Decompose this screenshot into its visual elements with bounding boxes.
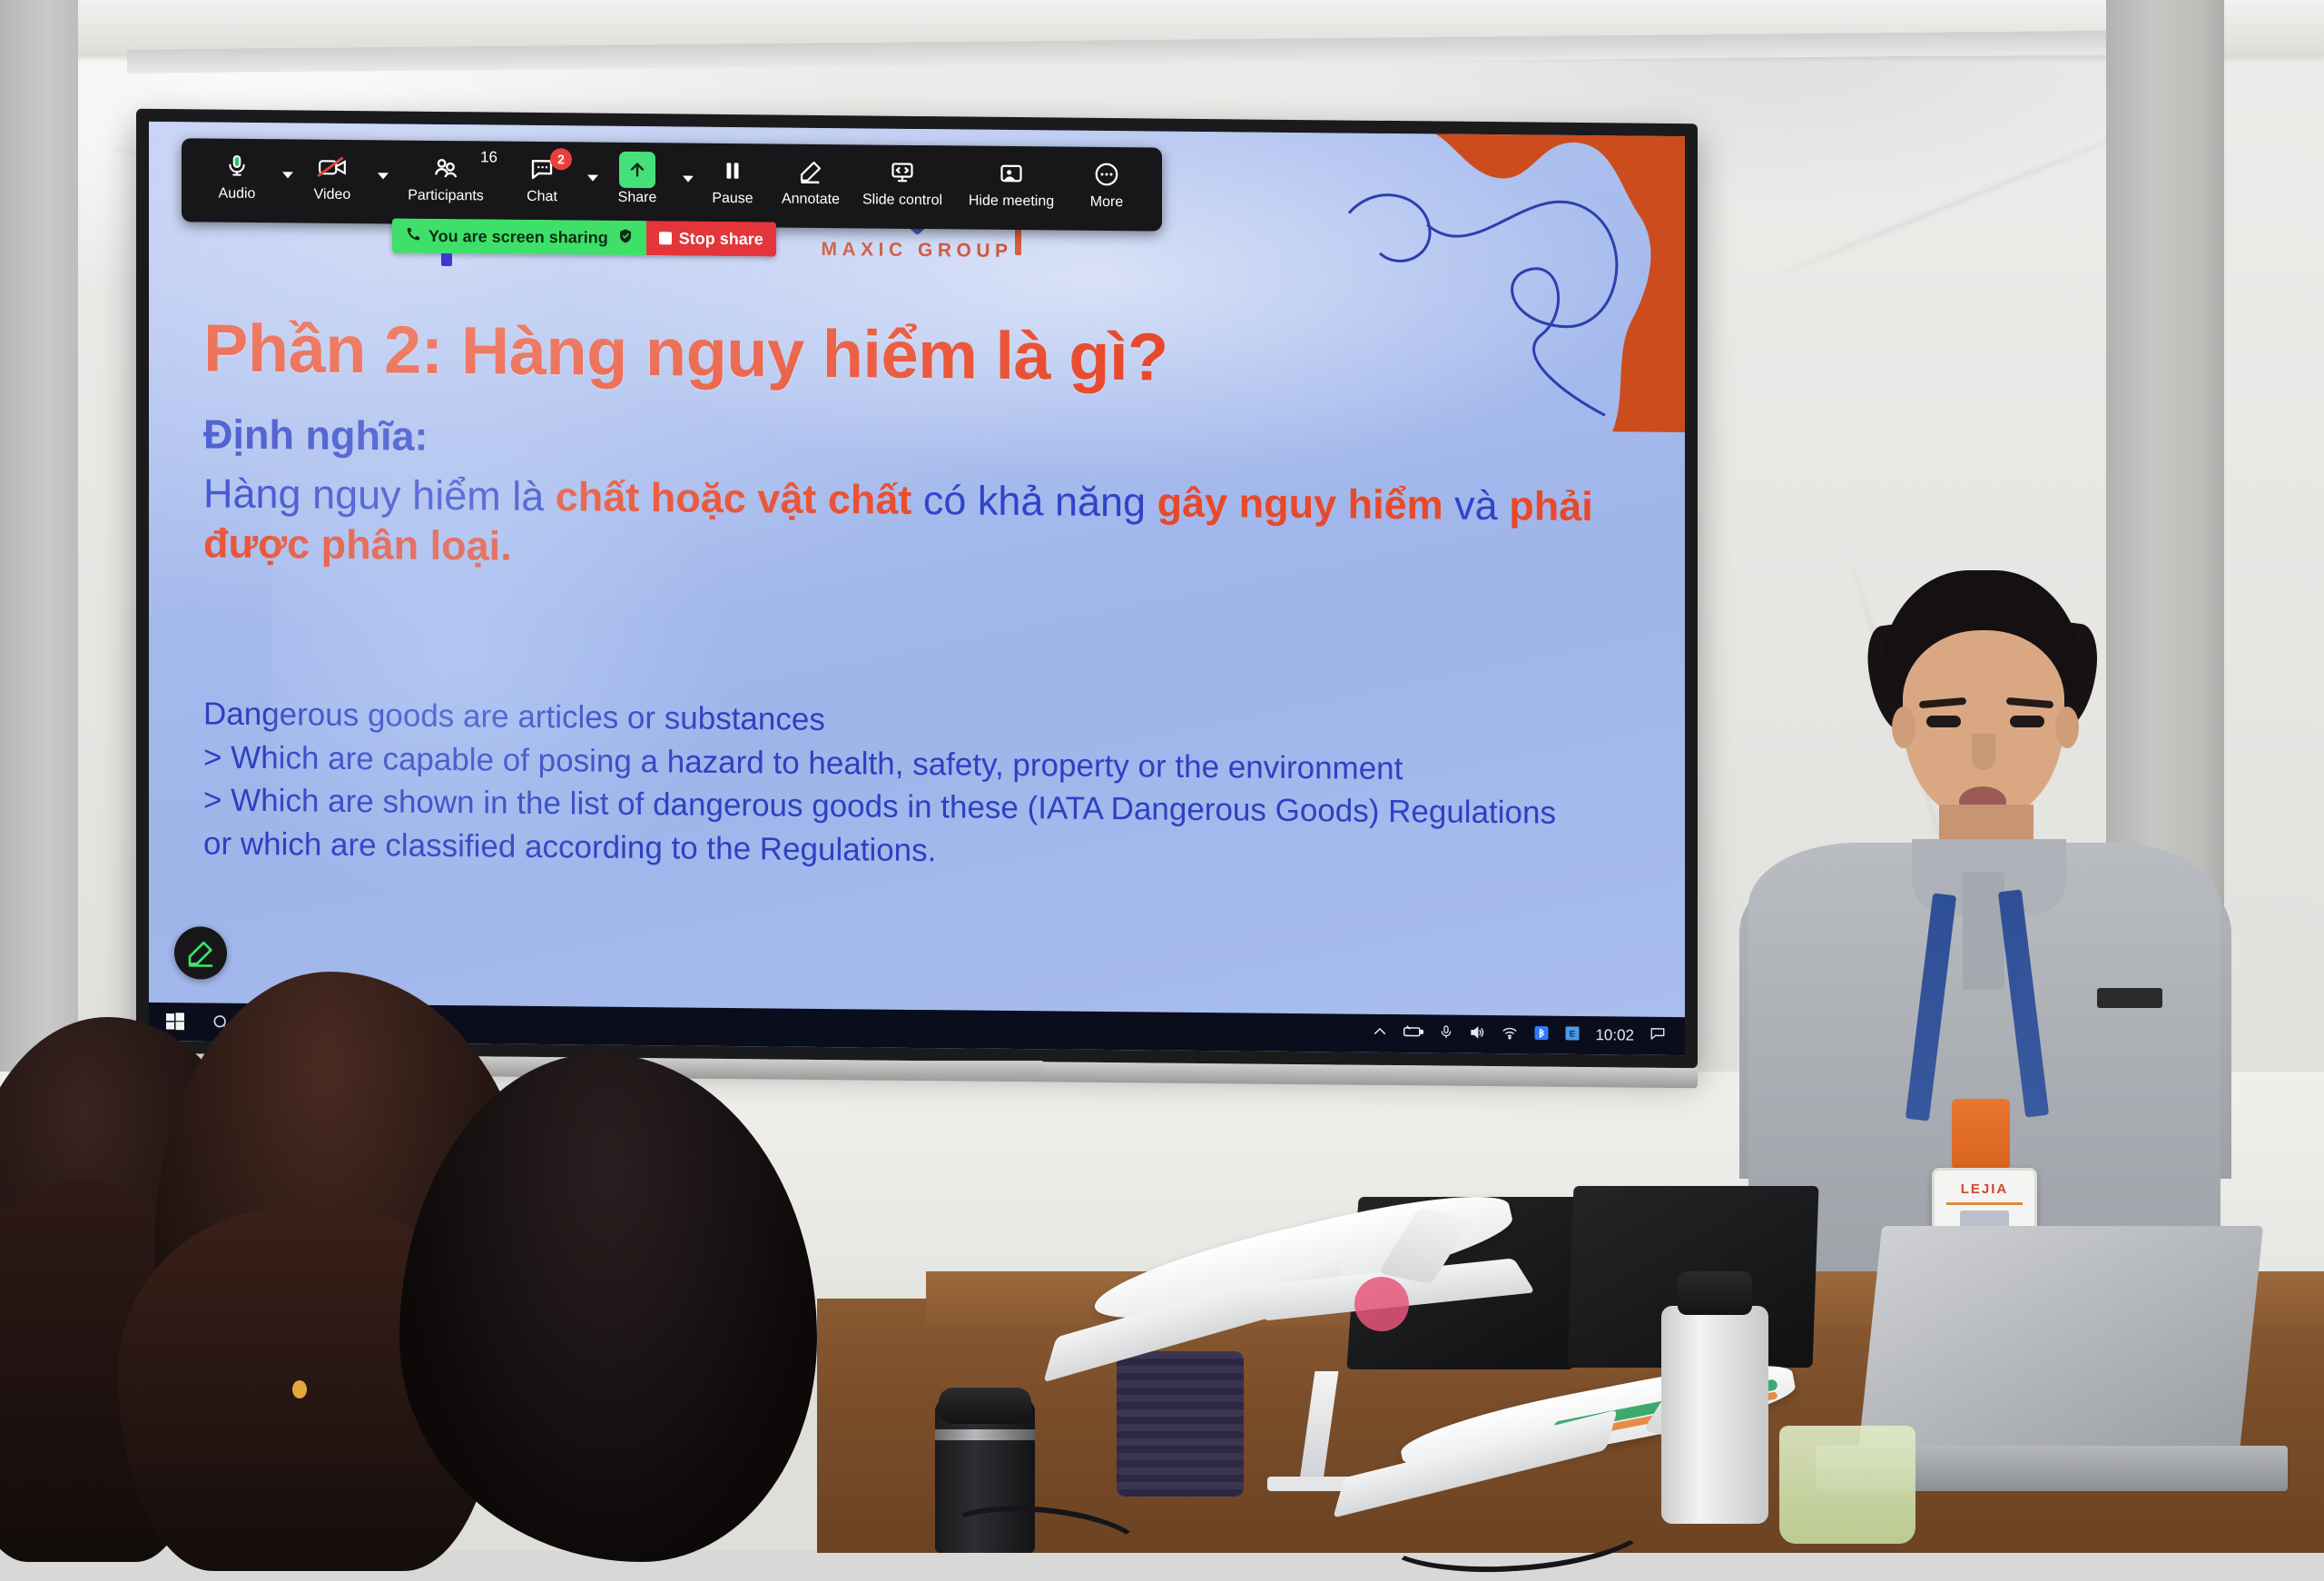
video-off-icon bbox=[317, 149, 348, 185]
stop-square-icon bbox=[659, 232, 672, 244]
zoom-chat-button[interactable]: 2 Chat bbox=[503, 149, 581, 206]
shield-check-icon bbox=[617, 227, 634, 248]
definition-run-1: chất hoặc vật chất bbox=[556, 473, 912, 523]
attendee-back-3 bbox=[399, 1053, 817, 1562]
zoom-annotate-button[interactable]: Annotate bbox=[772, 151, 850, 208]
pause-icon bbox=[721, 153, 744, 189]
zoom-meeting-toolbar[interactable]: Audio bbox=[182, 138, 1162, 231]
zoom-share-button[interactable]: Share bbox=[598, 150, 676, 207]
decorative-blob bbox=[1313, 129, 1685, 432]
pencil-icon bbox=[797, 153, 824, 190]
display-screen: MAXIC GROUP Phần 2: Hàng nguy hiểm là gì… bbox=[149, 122, 1685, 1055]
zoom-pause-label: Pause bbox=[712, 191, 753, 207]
wall-pillar-left bbox=[0, 0, 78, 1117]
zoom-share-label: Share bbox=[618, 190, 657, 206]
screen-sharing-banner: You are screen sharing Stop share bbox=[392, 218, 776, 256]
presentation-slide: MAXIC GROUP Phần 2: Hàng nguy hiểm là gì… bbox=[149, 122, 1685, 1055]
definition-run-3: gây nguy hiểm bbox=[1157, 479, 1443, 529]
zoom-more-label: More bbox=[1090, 194, 1123, 211]
meeting-room-scene: MAXIC GROUP Phần 2: Hàng nguy hiểm là gì… bbox=[0, 0, 2324, 1550]
zoom-participants-button[interactable]: 16 Participants bbox=[389, 147, 503, 204]
drink-cup bbox=[1779, 1426, 1915, 1544]
zoom-video-label: Video bbox=[314, 187, 351, 203]
brand-name: MAXIC GROUP bbox=[821, 239, 1012, 262]
zoom-audio-label: Audio bbox=[219, 186, 256, 203]
definition-run-4: và bbox=[1443, 482, 1510, 529]
zoom-video-button[interactable]: Video bbox=[293, 146, 371, 203]
video-chevron-down-icon[interactable] bbox=[378, 173, 389, 179]
slide-control-icon bbox=[889, 154, 916, 191]
definition-run-0: Hàng nguy hiểm là bbox=[203, 469, 556, 519]
foreground bbox=[0, 999, 2324, 1550]
phone-icon bbox=[405, 226, 419, 245]
stop-share-label: Stop share bbox=[679, 229, 763, 249]
chat-unread-badge: 2 bbox=[550, 148, 572, 170]
banner-drag-handle[interactable] bbox=[441, 253, 452, 266]
laptop-3 bbox=[1858, 1226, 2263, 1453]
microphone-icon bbox=[225, 148, 249, 184]
zoom-chat-label: Chat bbox=[527, 189, 557, 205]
display-bezel: MAXIC GROUP Phần 2: Hàng nguy hiểm là gì… bbox=[136, 109, 1698, 1069]
zoom-slide-control-button[interactable]: Slide control bbox=[850, 152, 955, 209]
zoom-audio-button[interactable]: Audio bbox=[198, 145, 276, 203]
pen-icon[interactable] bbox=[174, 926, 227, 980]
zoom-hide-meeting-button[interactable]: Hide meeting bbox=[955, 153, 1068, 210]
sharing-status-text: You are screen sharing bbox=[428, 226, 608, 247]
slide-title: Phần 2: Hàng nguy hiểm là gì? bbox=[203, 309, 1168, 395]
zoom-slide-control-label: Slide control bbox=[862, 192, 942, 209]
zoom-more-button[interactable]: More bbox=[1068, 154, 1146, 212]
audio-chevron-down-icon[interactable] bbox=[282, 172, 293, 178]
white-water-bottle bbox=[1661, 1306, 1768, 1524]
share-screen-icon bbox=[619, 152, 655, 188]
participants-count: 16 bbox=[480, 148, 497, 166]
zoom-pause-button[interactable]: Pause bbox=[694, 151, 772, 208]
stop-share-button[interactable]: Stop share bbox=[646, 221, 776, 256]
share-chevron-down-icon[interactable] bbox=[683, 175, 694, 182]
hide-meeting-icon bbox=[998, 155, 1025, 192]
chat-chevron-down-icon[interactable] bbox=[587, 174, 598, 181]
slide-definition-text: Hàng nguy hiểm là chất hoặc vật chất có … bbox=[203, 469, 1647, 582]
ellipsis-icon bbox=[1093, 156, 1120, 193]
zoom-participants-label: Participants bbox=[408, 188, 484, 205]
wall-display: MAXIC GROUP Phần 2: Hàng nguy hiểm là gì… bbox=[136, 109, 1698, 1069]
slide-subtitle: Định nghĩa: bbox=[203, 410, 428, 459]
participants-icon bbox=[432, 150, 459, 186]
zoom-hide-meeting-label: Hide meeting bbox=[969, 193, 1054, 211]
earring bbox=[292, 1380, 307, 1398]
slide-english-text: Dangerous goods are articles or substanc… bbox=[203, 692, 1656, 879]
definition-run-2: có khả năng bbox=[911, 477, 1157, 526]
zoom-annotate-label: Annotate bbox=[782, 192, 840, 209]
sharing-status: You are screen sharing bbox=[392, 218, 646, 255]
